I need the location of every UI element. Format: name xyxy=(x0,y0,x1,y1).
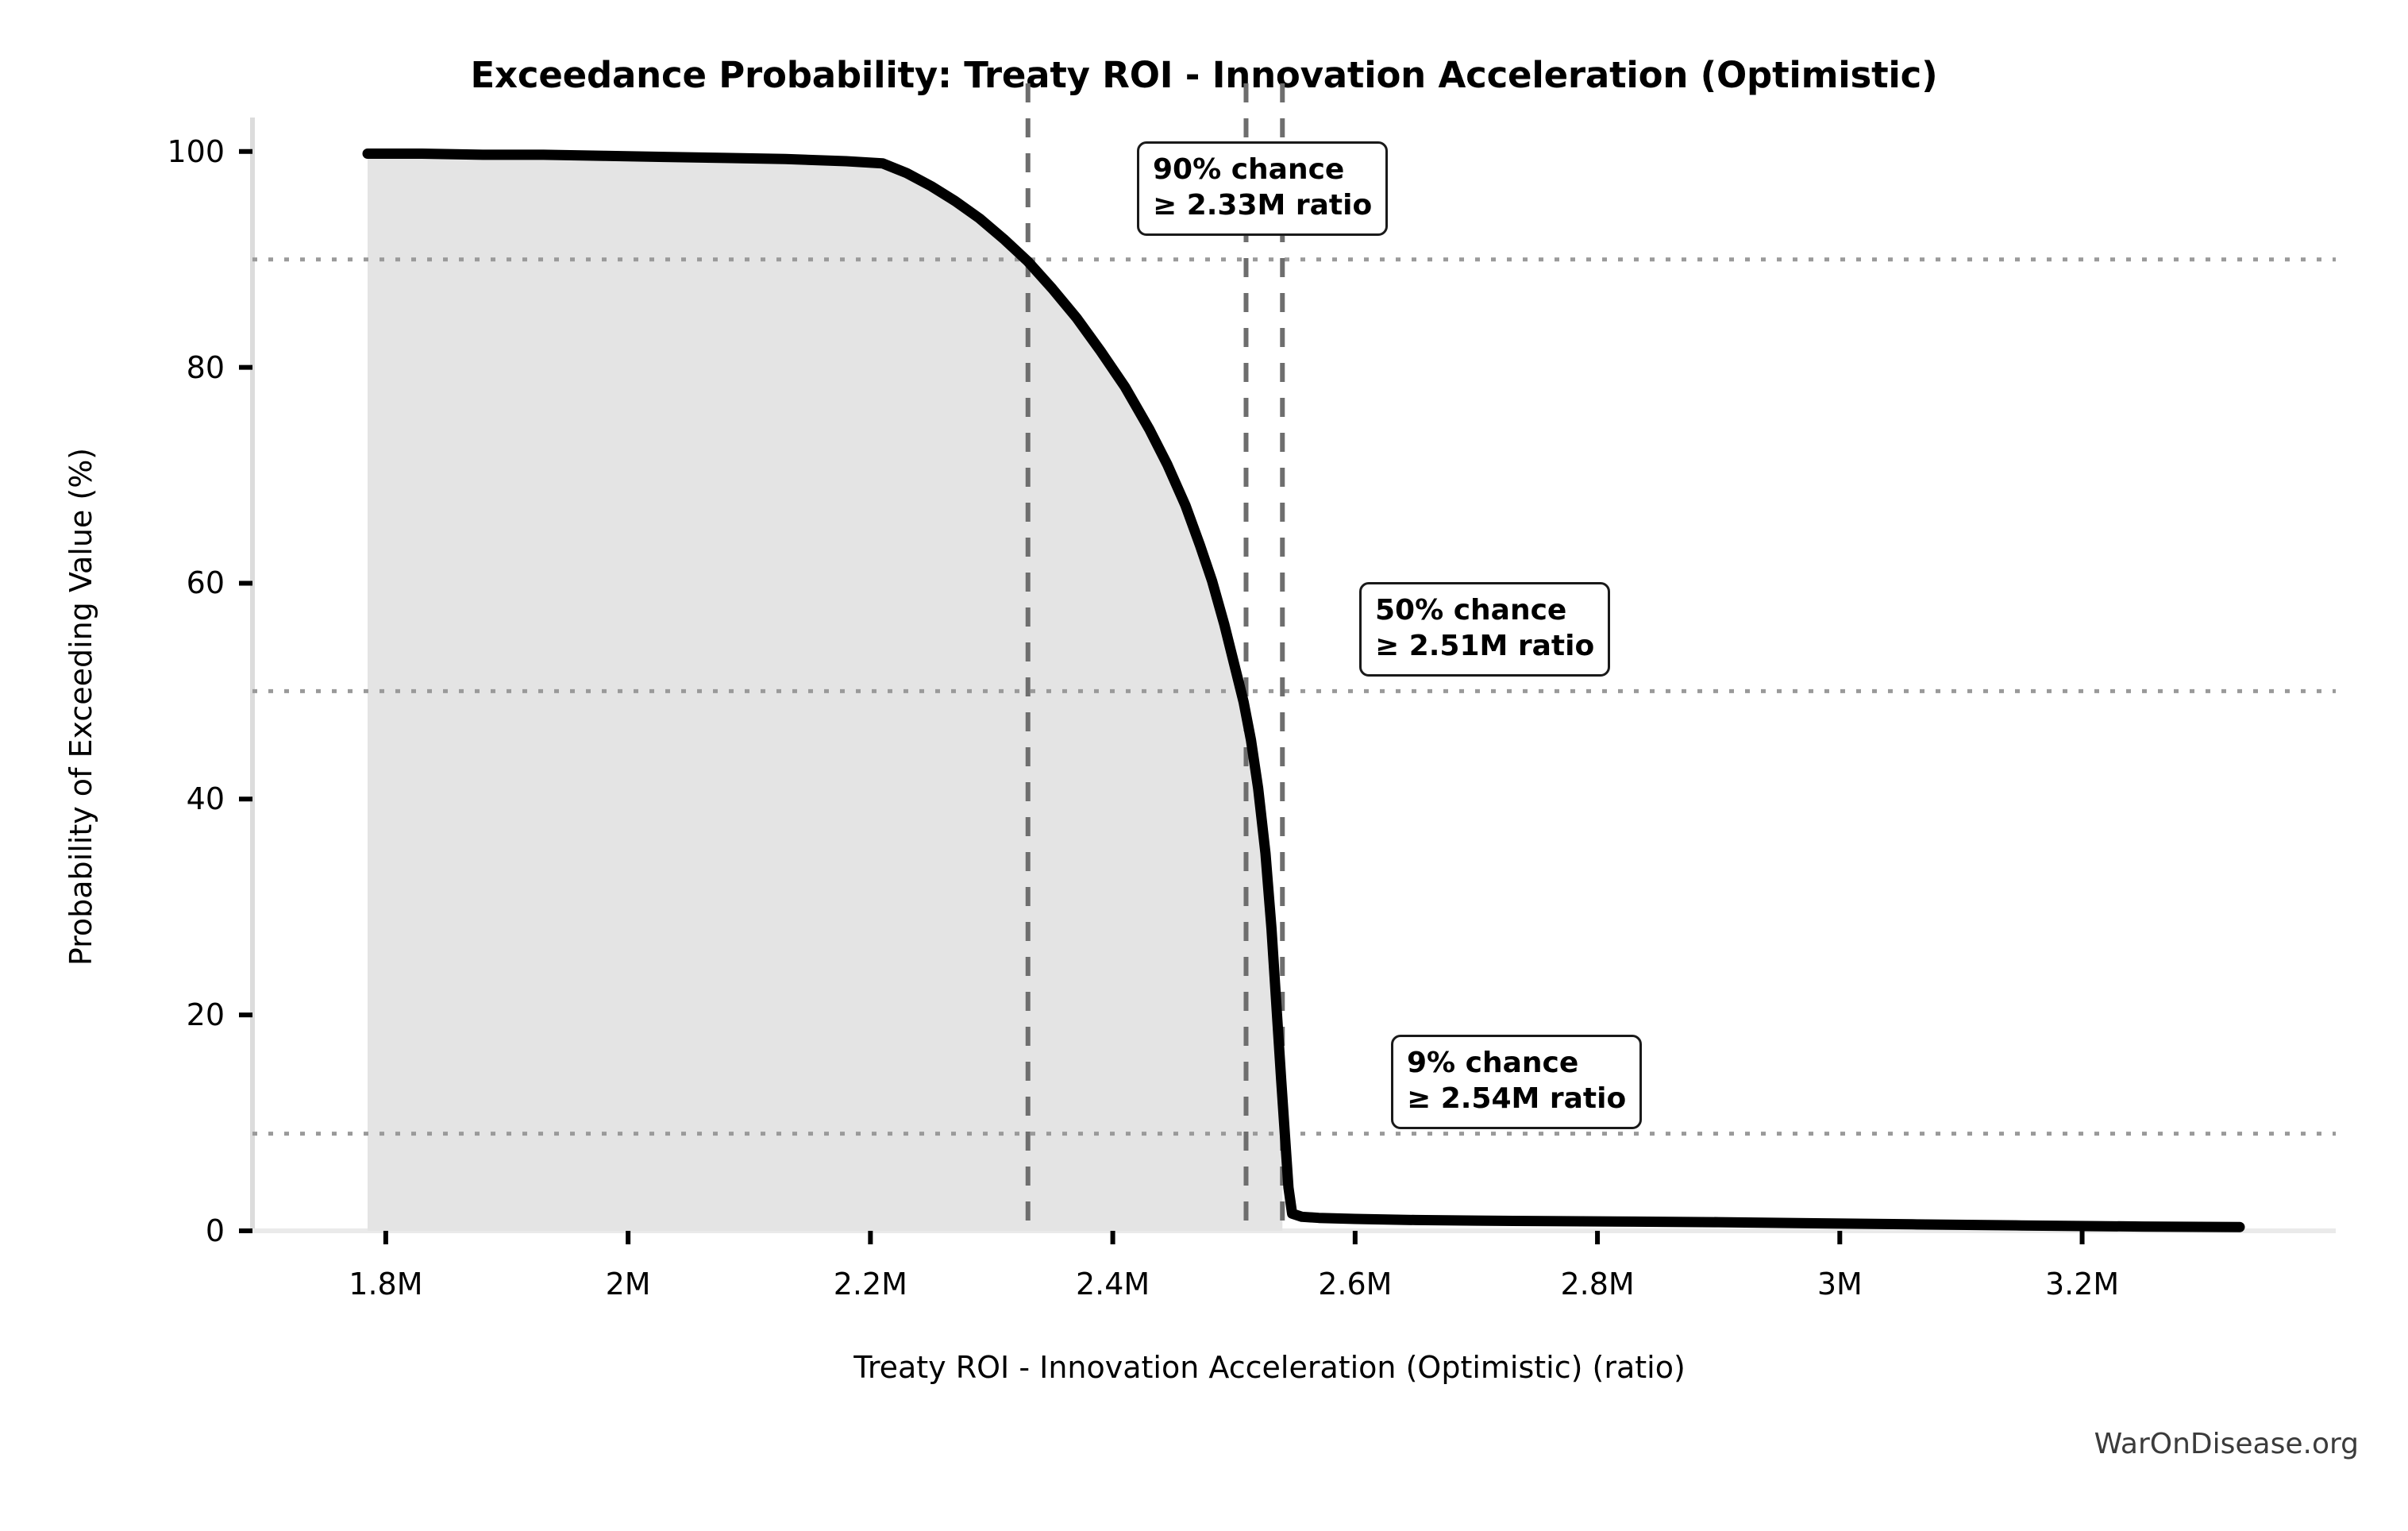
annotation-line-1: 90% chance xyxy=(1153,153,1344,186)
y-tick-label: 100 xyxy=(82,134,225,169)
y-tick-label: 80 xyxy=(82,350,225,385)
y-tick-label: 0 xyxy=(82,1213,225,1248)
annotation-box-p9: 9% chance≥ 2.54M ratio xyxy=(1391,1035,1642,1129)
annotation-box-p50: 50% chance≥ 2.51M ratio xyxy=(1359,582,1610,677)
x-tick-label: 2.4M xyxy=(1076,1267,1150,1302)
site-watermark: WarOnDisease.org xyxy=(2094,1428,2359,1460)
x-tick-label: 1.8M xyxy=(349,1267,422,1302)
x-tick-label: 2.2M xyxy=(834,1267,907,1302)
annotation-line-2: ≥ 2.33M ratio xyxy=(1153,189,1372,222)
chart-figure: Exceedance Probability: Treaty ROI - Inn… xyxy=(0,0,2408,1531)
x-tick-label: 3M xyxy=(1817,1267,1863,1302)
y-axis-label: Probability of Exceeding Value (%) xyxy=(64,349,98,1064)
x-tick-label: 2.6M xyxy=(1318,1267,1392,1302)
y-tick-label: 60 xyxy=(82,565,225,600)
x-tick-label: 2.8M xyxy=(1560,1267,1634,1302)
annotation-line-1: 9% chance xyxy=(1407,1047,1578,1079)
x-tick-label: 2M xyxy=(606,1267,651,1302)
annotation-box-p90: 90% chance≥ 2.33M ratio xyxy=(1137,141,1388,236)
y-tick-label: 20 xyxy=(82,997,225,1032)
y-tick-label: 40 xyxy=(82,781,225,816)
annotation-line-1: 50% chance xyxy=(1375,594,1566,627)
annotation-line-2: ≥ 2.54M ratio xyxy=(1407,1082,1626,1115)
x-tick-label: 3.2M xyxy=(2045,1267,2119,1302)
annotation-line-2: ≥ 2.51M ratio xyxy=(1375,630,1594,662)
x-axis-label: Treaty ROI - Innovation Acceleration (Op… xyxy=(252,1350,2287,1385)
